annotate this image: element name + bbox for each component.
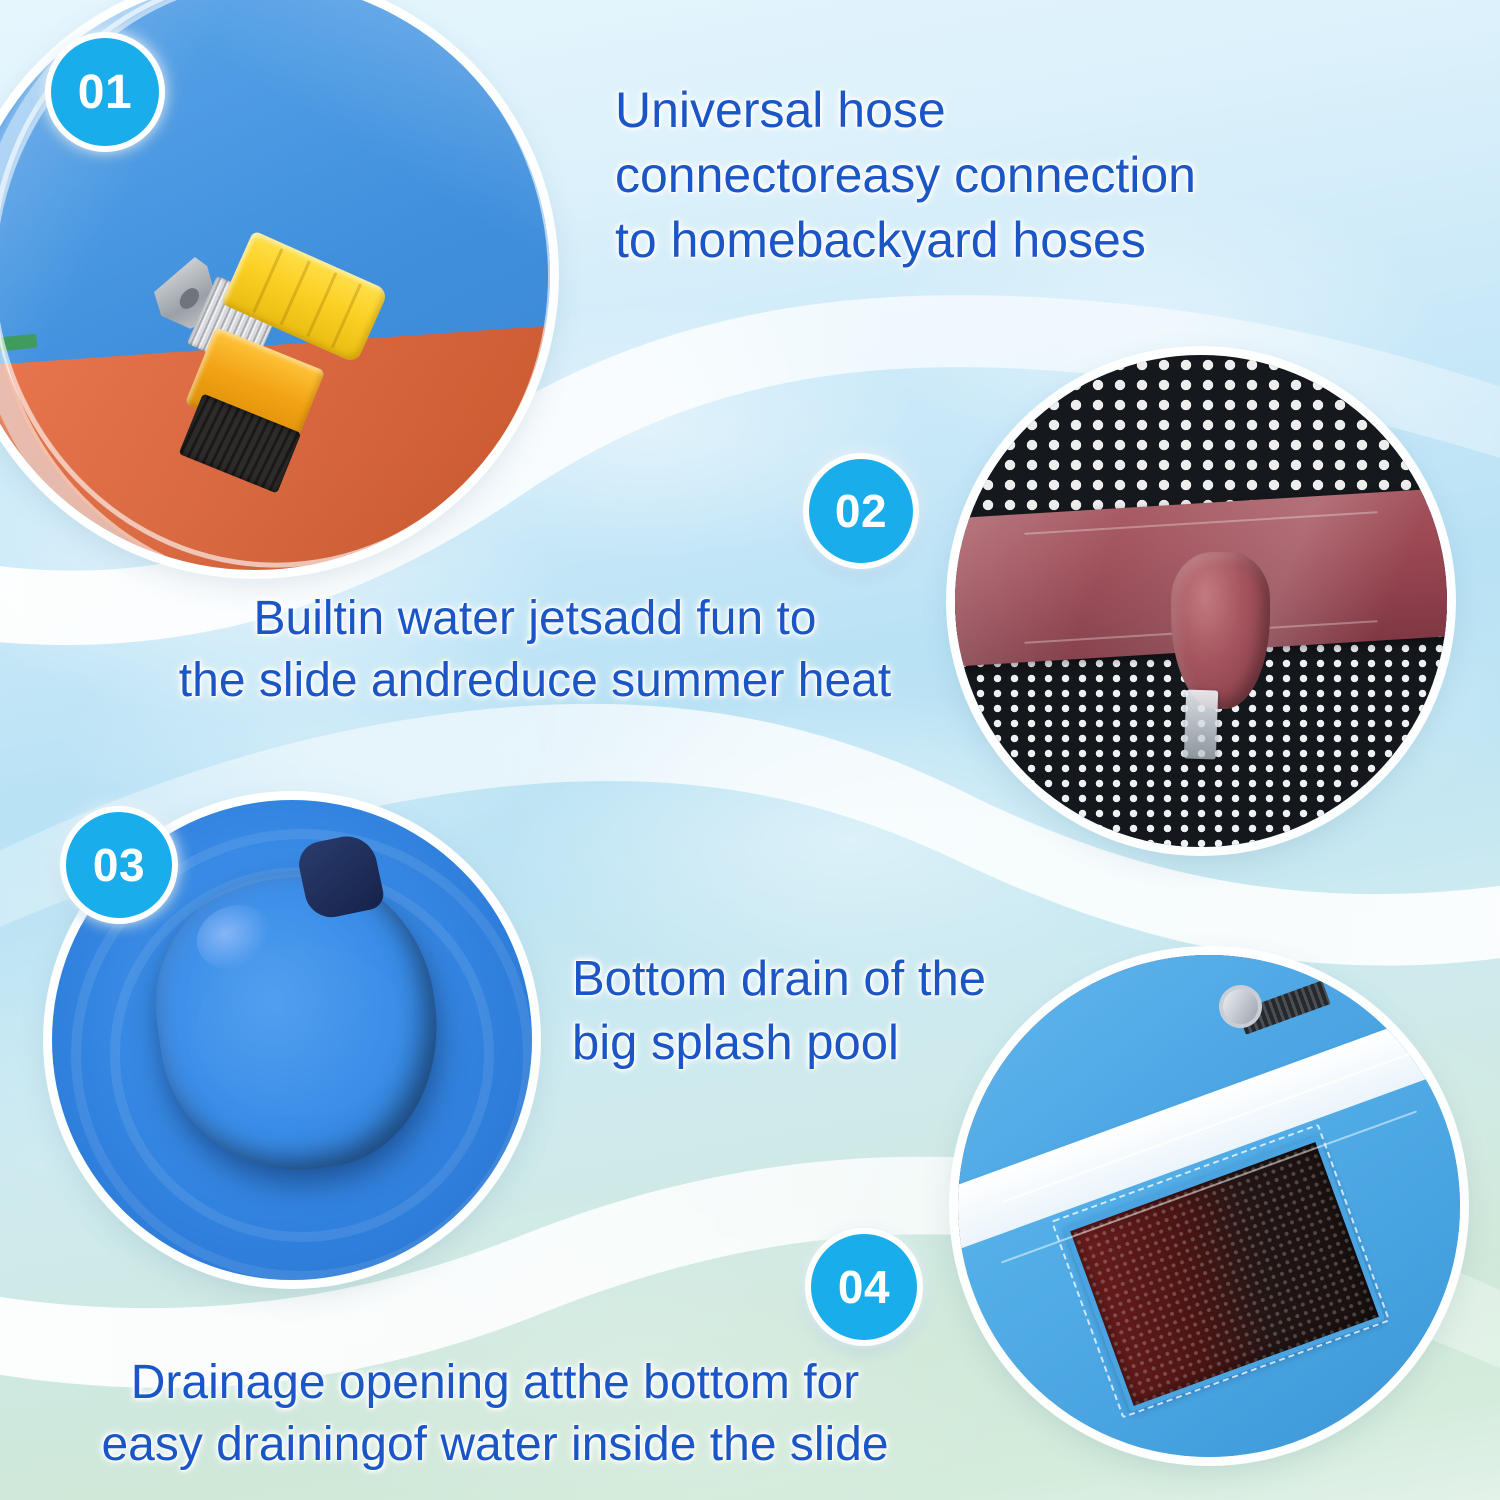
water-jet-tip [1184,689,1218,759]
feature-photo-water-jet [955,355,1447,847]
feature-caption-01: Universal hose connectoreasy connection … [615,78,1255,273]
feature-badge-01: 01 [45,32,165,152]
badge-number: 02 [835,484,887,538]
feature-badge-02: 02 [803,453,919,569]
feature-caption-02: Builtin water jetsadd fun to the slide a… [110,588,960,713]
badge-number: 03 [93,838,145,892]
badge-number: 04 [838,1260,890,1314]
feature-badge-04: 04 [805,1228,923,1346]
badge-number: 01 [78,65,132,120]
feature-caption-04: Drainage opening atthe bottom for easy d… [45,1352,945,1477]
feature-photo-drainage-opening [958,955,1460,1457]
plug-fold [196,944,407,1117]
infographic-canvas: 01 Universal hose connectoreasy connecti… [0,0,1500,1500]
feature-badge-03: 03 [60,806,178,924]
